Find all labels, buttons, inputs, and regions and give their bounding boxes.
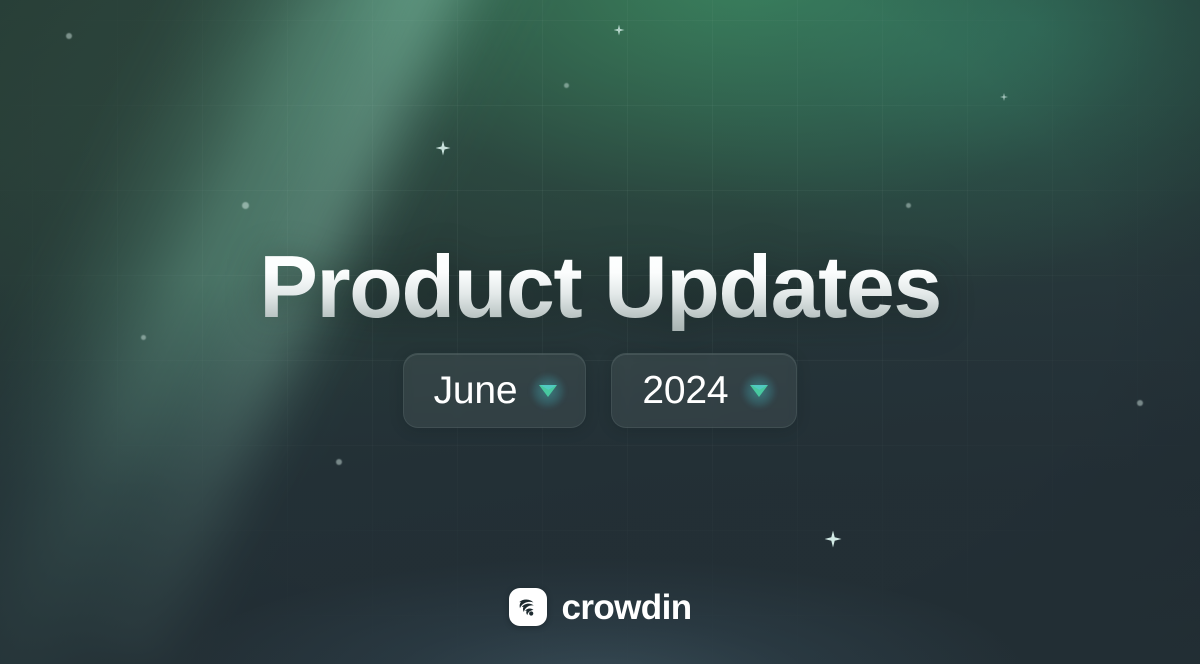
chevron-down-icon[interactable] bbox=[742, 374, 776, 408]
chevron-down-icon[interactable] bbox=[531, 374, 565, 408]
year-selector-button[interactable]: 2024 bbox=[611, 353, 797, 428]
hero-content: Product Updates June 2024 bbox=[0, 0, 1200, 664]
crowdin-logo-icon bbox=[509, 588, 547, 626]
crowdin-wordmark: crowdin bbox=[562, 590, 692, 625]
chevron-triangle bbox=[750, 385, 768, 397]
month-selector-label: June bbox=[434, 369, 518, 413]
page-title: Product Updates bbox=[0, 243, 1200, 331]
crowdin-logo[interactable]: crowdin bbox=[0, 588, 1200, 626]
date-selector-group: June 2024 bbox=[0, 353, 1200, 428]
month-selector-button[interactable]: June bbox=[403, 353, 587, 428]
product-updates-hero-banner: Product Updates June 2024 bbox=[0, 0, 1200, 664]
year-selector-label: 2024 bbox=[642, 369, 728, 413]
chevron-triangle bbox=[539, 385, 557, 397]
